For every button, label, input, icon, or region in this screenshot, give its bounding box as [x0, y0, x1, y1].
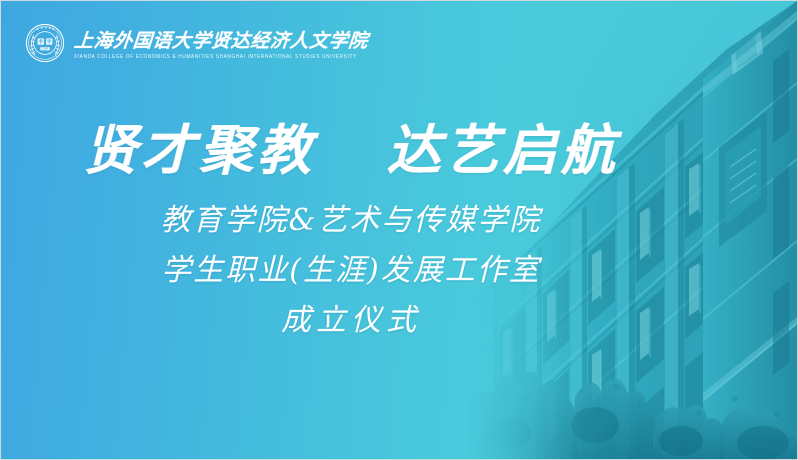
seal-year-text: 1998 [42, 47, 48, 51]
brand-text-block: 上海外国语大学贤达经济人文学院 XIANDA COLLEGE OF ECONOM… [74, 32, 368, 60]
campus-building-photo [467, 1, 797, 460]
headline-part-1: 贤才聚教 [83, 118, 315, 182]
university-seal-icon: 1998 [25, 23, 65, 68]
brand-lockup: 1998 上海外国语大学贤达经济人文学院 XIANDA COLLEGE OF E… [25, 23, 368, 68]
poster-subtitle-line-3: 成立仪式 [281, 306, 421, 336]
university-name-cn: 上海外国语大学贤达经济人文学院 [73, 32, 369, 51]
poster-banner: 1998 上海外国语大学贤达经济人文学院 XIANDA COLLEGE OF E… [0, 0, 798, 460]
university-name-en: XIANDA COLLEGE OF ECONOMICS & HUMANITIES… [74, 54, 368, 59]
